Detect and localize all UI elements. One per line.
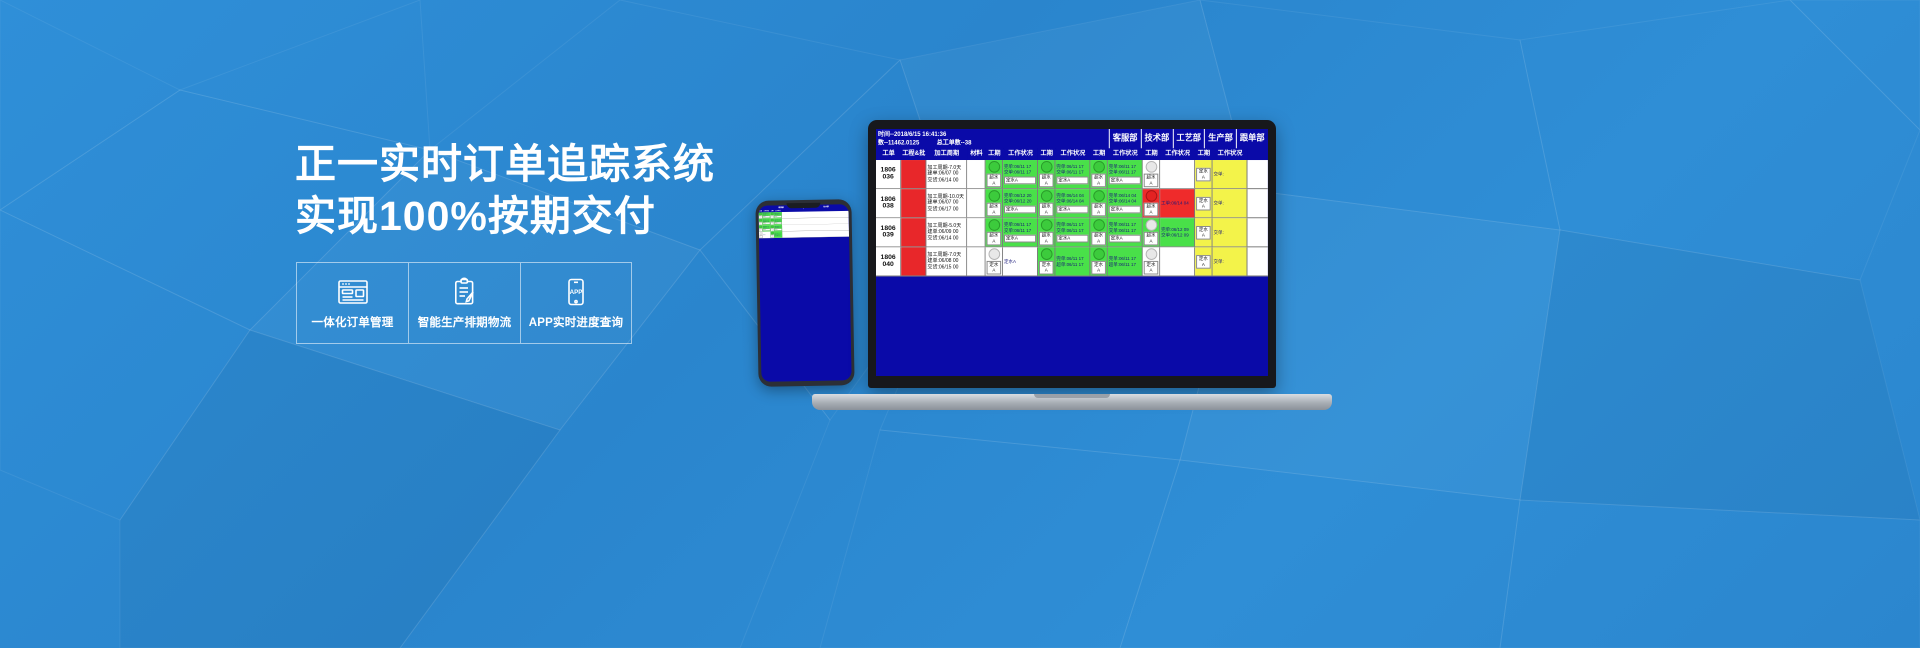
status-tag: 定水A: [774, 216, 781, 218]
status-dot-grey-icon: [1145, 219, 1157, 231]
status-tag: 定水A: [763, 216, 770, 218]
department-header: 客服部: [1109, 129, 1141, 148]
cell-work-status: 交单:: [1213, 160, 1248, 188]
department-header: 技术部: [1141, 129, 1173, 148]
status-dot-green-icon: [988, 161, 1000, 173]
status-tag: 定水A: [1056, 234, 1088, 242]
status-line: 交单:06/14 04: [1056, 199, 1088, 205]
status-tag: 定水A: [1056, 176, 1088, 184]
status-line: 交单:06/11 17: [1056, 170, 1088, 176]
cell-lead-time: 超水A: [986, 189, 1003, 217]
table-row[interactable]: 1806040加工周期-7.0天建单:06/08 00交货:06/15 00定水…: [876, 247, 1268, 276]
table-row[interactable]: 1806038加工周期-10.0天建单:06/07 00交货:06/17 00超…: [876, 189, 1268, 218]
cell-work-status: 交单:: [1213, 189, 1248, 217]
column-header: 工作状况: [1160, 148, 1195, 160]
dashboard-meta: 时间--2018/6/15 16:41:36数--11462.0125总工单数-…: [876, 129, 1109, 148]
cell-lead-time: 超水A: [1090, 218, 1107, 246]
status-dot-green-icon: [1093, 248, 1105, 260]
status-tag: 定水A: [1004, 205, 1036, 213]
cell-processing-cycle: 加工周期-7.0天建单:06/07 00交货:06/14 00: [926, 160, 967, 188]
cell-lead-time: 定水A: [1195, 189, 1212, 217]
cell-material: [967, 247, 985, 275]
cell-work-status: 完单:06/11 17超单:06/11 17: [774, 231, 782, 237]
status-tag: 超水A: [1144, 173, 1159, 187]
status-tag: 定水A: [1144, 260, 1159, 274]
cell-project-batch: [901, 247, 926, 275]
cell-order-number: 1806039: [876, 218, 901, 246]
hero-text-block: 正一实时订单追踪系统 实现100%按期交付: [295, 138, 715, 242]
status-line: 交单:: [1214, 258, 1246, 264]
status-line: 交单:: [1214, 171, 1246, 177]
cell-work-status: 完单:06/14 04交单:06/14 04定水A: [774, 219, 782, 225]
feature-label-app-progress: APP实时进度查询: [529, 314, 623, 330]
status-tag: 超水A: [1091, 173, 1106, 187]
cell-work-status: 完单:06/11 17交单:06/11 17定水A: [774, 212, 782, 218]
cell-work-status: 完单:06/11 17交单:06/11 17定水A: [774, 225, 782, 231]
status-tag: 定水A: [1039, 260, 1054, 274]
cell-lead-time: 定水A: [1195, 247, 1212, 275]
status-line: 超单:06/11 17: [1056, 261, 1088, 267]
cell-lead-time: 超水A: [1038, 218, 1055, 246]
cell-lead-time: 定水A: [1195, 218, 1212, 246]
status-tag: 定水A: [1196, 196, 1211, 210]
cell-lead-time: 超水A: [1143, 218, 1160, 246]
svg-text:APP: APP: [570, 289, 583, 296]
column-header: 工期: [986, 148, 1003, 160]
mobile-app-icon: APP: [559, 277, 593, 307]
column-header: 工期: [1143, 148, 1160, 160]
cell-work-status: 完单:06/12 09交单:06/12 09: [1160, 218, 1195, 246]
cell-work-status: 交单:: [1213, 218, 1248, 246]
status-tag: 定水A: [1004, 234, 1036, 242]
status-tag: 定水A: [774, 222, 781, 224]
feature-label-order-management: 一体化订单管理: [312, 314, 394, 330]
status-tag: 定水A: [1109, 205, 1141, 213]
status-line: 交单:06/11 17: [1109, 228, 1141, 234]
cell-order-number: 1806036: [876, 160, 901, 188]
status-line: 交单:06/14 04: [1109, 199, 1141, 205]
status-line: 交单:06/12 20: [1004, 199, 1036, 205]
column-header: 材料: [967, 148, 985, 160]
cell-work-status: 完单:06/11 17交单:06/11 17定水A: [1055, 218, 1090, 246]
status-dot-grey-icon: [1145, 161, 1157, 173]
cell-material: [967, 189, 985, 217]
cell-work-status: 完单:06/12 20交单:06/12 20定水A: [1003, 189, 1038, 217]
cell-lead-time: 超水A: [1038, 189, 1055, 217]
column-header: 工单: [876, 148, 901, 160]
cell-processing-cycle: 加工周期-10.0天建单:06/07 00交货:06/17 00: [926, 189, 967, 217]
status-tag: 超水A: [1144, 231, 1159, 245]
status-dot-green-icon: [1093, 161, 1105, 173]
cell-project-batch: [901, 218, 926, 246]
order-table: 1806036加工周期-7.0天建单:06/07 00交货:06/14 00超水…: [876, 160, 1268, 276]
feature-item-order-management[interactable]: 一体化订单管理: [296, 262, 408, 344]
cell-work-status: 完单:06/14 04交单:06/14 04定水A: [1055, 189, 1090, 217]
cell-project-batch: [901, 160, 926, 188]
cell-work-status: [1160, 247, 1195, 275]
cell-lead-time: 定水A: [1090, 247, 1107, 275]
status-tag: 超水A: [1039, 231, 1054, 245]
status-tag: 定水A: [1109, 176, 1141, 184]
department-header: 工艺部: [1172, 129, 1204, 148]
status-dot-green-icon: [988, 219, 1000, 231]
status-dot-red-icon: [1145, 190, 1157, 202]
column-header: 工期: [1090, 148, 1107, 160]
status-tag: 定水A: [1196, 226, 1211, 240]
status-tag: 定水A: [1091, 260, 1106, 274]
laptop-mockup: 时间--2018/6/15 16:41:36数--11462.0125总工单数-…: [812, 120, 1332, 410]
column-header-row: 工单工程&批次加工周期材料工期工作状况工期工作状况工期工作状况工期工作状况工期工…: [876, 148, 1268, 160]
column-header: 工作状况: [1213, 148, 1248, 160]
cell-work-status: [1160, 160, 1195, 188]
cell-lead-time: 超水A: [1090, 189, 1107, 217]
status-line: 定水A: [763, 234, 770, 235]
status-tag: 定水A: [763, 229, 770, 231]
feature-box-group: 一体化订单管理 智能生产排期物流 APP APP实时进度查询: [296, 262, 632, 344]
feature-item-app-progress[interactable]: APP APP实时进度查询: [520, 262, 632, 344]
order-tracking-dashboard: 时间--2018/6/15 16:41:36数--11462.0125总工单数-…: [876, 129, 1268, 376]
dashboard-time-label: 时间--2018/6/15 16:41:36: [878, 130, 1107, 139]
column-header: 工作状况: [1003, 148, 1038, 160]
status-line: 工单:06/14 04: [1161, 200, 1193, 206]
cell-lead-time: 超水A: [1143, 189, 1160, 217]
page-title: 正一实时订单追踪系统 实现100%按期交付: [295, 138, 715, 242]
cell-lead-time: 定水A: [1143, 247, 1160, 275]
hero-title-line1: 正一实时订单追踪系统: [295, 141, 715, 187]
status-tag: 定水A: [763, 222, 770, 224]
cell-order-number: 1806040: [876, 247, 901, 275]
browser-window-icon: [336, 277, 370, 307]
status-tag: 超水A: [987, 231, 1002, 245]
cell-lead-time: 定水A: [1038, 247, 1055, 275]
hero-title-line2: 实现100%按期交付: [295, 190, 715, 242]
cell-processing-cycle: 加工周期-7.0天建单:06/08 00交货:06/15 00: [926, 247, 967, 275]
cell-work-status: 完单:06/11 17交单:06/11 17定水A: [1108, 160, 1143, 188]
status-dot-green-icon: [1040, 161, 1052, 173]
cell-lead-time: 超水A: [986, 218, 1003, 246]
status-line: 超单:06/11 17: [1109, 261, 1141, 267]
status-dot-green-icon: [1040, 248, 1052, 260]
cell-work-status: 完单:06/11 17交单:06/11 17定水A: [1003, 218, 1038, 246]
status-dot-green-icon: [1040, 219, 1052, 231]
status-dot-green-icon: [1093, 219, 1105, 231]
status-line: 交单:06/11 17: [1004, 170, 1036, 176]
cell-order-number: 1806038: [876, 189, 901, 217]
status-tag: 定水A: [1004, 176, 1036, 184]
dashboard-count-label: 数--11462.0125: [878, 139, 919, 148]
status-tag: 定水A: [775, 229, 782, 231]
cell-lead-time: 超水A: [1090, 160, 1107, 188]
status-line: 交单:06/11 17: [1004, 228, 1036, 234]
cell-work-status: 完单:06/11 17交单:06/11 17定水A: [1055, 160, 1090, 188]
status-tag: 定水A: [1196, 167, 1211, 181]
status-tag: 超水A: [987, 173, 1002, 187]
cell-work-status: 完单:06/14 04交单:06/14 04定水A: [1108, 189, 1143, 217]
table-row[interactable]: 1806039加工周期-5.0天建单:06/09 00交货:06/14 00超水…: [876, 218, 1268, 247]
status-line: 超单:06/11 17: [775, 235, 782, 236]
column-header: 工作状况: [1108, 148, 1143, 160]
cell-work-status: 完单:06/11 17超单:06/11 17: [1055, 247, 1090, 275]
cell-lead-time: 超水A: [986, 160, 1003, 188]
status-tag: 超水A: [987, 202, 1002, 216]
status-line: 定水A: [1004, 258, 1036, 264]
status-tag: 定水A: [1109, 234, 1141, 242]
table-row[interactable]: 1806036加工周期-7.0天建单:06/07 00交货:06/14 00超水…: [876, 160, 1268, 189]
cell-work-status: 工单:06/14 04: [1160, 189, 1195, 217]
column-header: 工作状况: [1055, 148, 1090, 160]
status-dot-grey-icon: [1145, 248, 1157, 260]
column-header: 加工周期: [926, 148, 967, 160]
cell-material: [967, 218, 985, 246]
status-dot-grey-icon: [988, 248, 1000, 260]
cell-lead-time: 超水A: [1143, 160, 1160, 188]
feature-label-production-scheduling: 智能生产排期物流: [418, 314, 512, 330]
cell-work-status: 定水A: [763, 232, 771, 238]
column-header: 工期: [1195, 148, 1212, 160]
status-tag: 超水A: [1039, 173, 1054, 187]
status-line: 交单:06/11 17: [1109, 170, 1141, 176]
cell-project-batch: [901, 189, 926, 217]
status-tag: 定水A: [987, 260, 1002, 274]
column-header: 工程&批次: [901, 148, 926, 160]
status-line: 交单:06/11 17: [1056, 228, 1088, 234]
status-tag: 超水A: [1091, 202, 1106, 216]
cell-work-status: 完单:06/11 17交单:06/11 17定水A: [763, 225, 771, 231]
cell-material: [967, 160, 985, 188]
cell-lead-time: 超水A: [1038, 160, 1055, 188]
status-line: 交单:06/12 09: [1161, 232, 1193, 238]
status-dot-green-icon: [1093, 190, 1105, 202]
clipboard-checklist-icon: [448, 277, 482, 307]
feature-item-production-scheduling[interactable]: 智能生产排期物流: [408, 262, 520, 344]
status-line: 交单:: [1214, 200, 1246, 206]
status-dot-green-icon: [988, 190, 1000, 202]
cell-lead-time: 定水A: [986, 247, 1003, 275]
department-header-row: 客服部技术部工艺部生产部跟单部: [1109, 129, 1268, 148]
status-tag: 定水A: [1056, 205, 1088, 213]
status-tag: 超水A: [1039, 202, 1054, 216]
department-header: 跟单部: [1236, 129, 1268, 148]
laptop-lid: 时间--2018/6/15 16:41:36数--11462.0125总工单数-…: [868, 120, 1276, 388]
status-tag: 超水A: [1144, 202, 1159, 216]
laptop-base: [812, 394, 1332, 410]
cell-work-status: 完单:06/11 17交单:06/11 17定水A: [1003, 160, 1038, 188]
cell-lead-time: 定水A: [1195, 160, 1212, 188]
status-tag: 定水A: [1196, 255, 1211, 269]
cell-work-status: 完单:06/11 17交单:06/11 17定水A: [1108, 218, 1143, 246]
status-line: 交单:: [1214, 229, 1246, 235]
dashboard-total-label: 总工单数--38: [937, 139, 972, 148]
cell-work-status: 完单:06/11 17超单:06/11 17: [1108, 247, 1143, 275]
department-header: 生产部: [1204, 129, 1236, 148]
cell-work-status: 完单:06/12 20交单:06/12 20定水A: [763, 219, 771, 225]
cell-work-status: 完单:06/11 17交单:06/11 17定水A: [762, 212, 770, 218]
laptop-screen: 时间--2018/6/15 16:41:36数--11462.0125总工单数-…: [876, 129, 1268, 376]
cell-work-status: 交单:: [1213, 247, 1248, 275]
status-dot-green-icon: [1040, 190, 1052, 202]
cell-work-status: 定水A: [1003, 247, 1038, 275]
status-tag: 超水A: [1091, 231, 1106, 245]
dashboard-header: 时间--2018/6/15 16:41:36数--11462.0125总工单数-…: [876, 129, 1268, 148]
column-header: 工期: [1038, 148, 1055, 160]
cell-processing-cycle: 加工周期-5.0天建单:06/09 00交货:06/14 00: [926, 218, 967, 246]
